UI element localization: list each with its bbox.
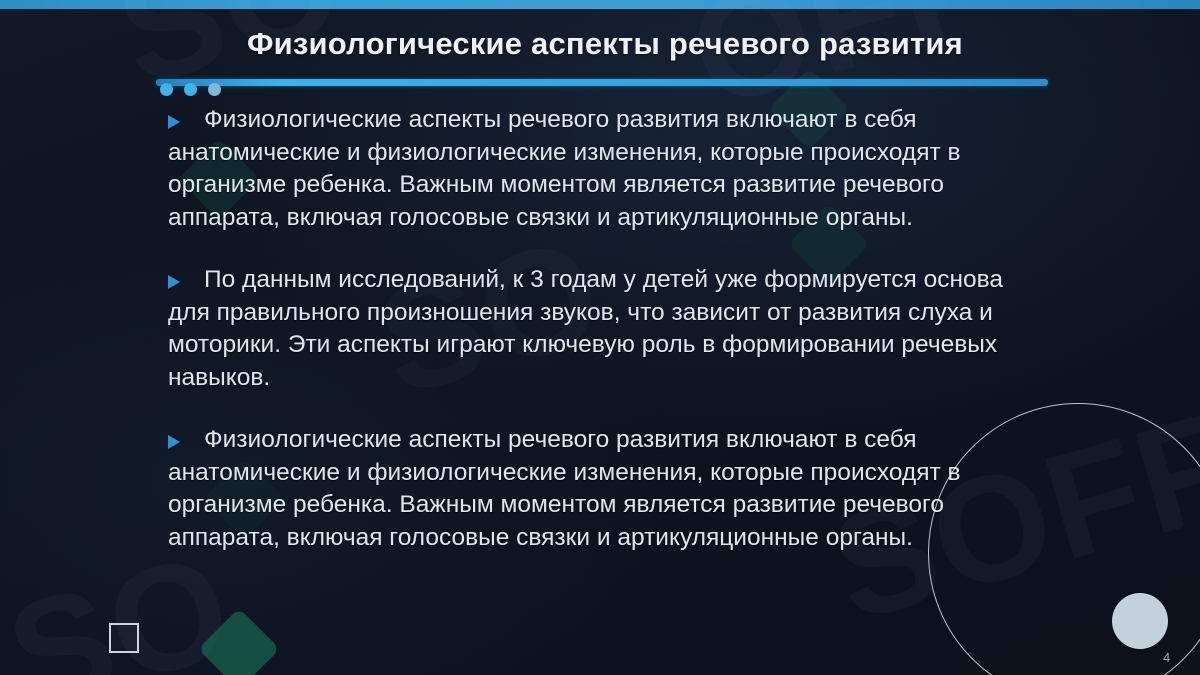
triangle-right-icon [168, 435, 180, 449]
bullet-item: Физиологические аспекты речевого развити… [168, 424, 1040, 554]
triangle-right-icon [168, 275, 180, 289]
dot-icon [160, 83, 173, 96]
slide-body: Физиологические аспекты речевого развити… [168, 104, 1040, 554]
bullet-text: По данным исследований, к 3 годам у дете… [168, 266, 1003, 391]
top-accent-bar [0, 0, 1200, 9]
dot-icon [208, 83, 221, 96]
decorative-square-outline [109, 623, 139, 653]
title-dots-decoration [160, 83, 221, 96]
decorative-filled-circle [1112, 593, 1168, 649]
decorative-diamond [198, 608, 280, 675]
triangle-right-icon [168, 115, 180, 129]
page-number: 4 [1163, 650, 1170, 665]
bullet-text: Физиологические аспекты речевого развити… [168, 426, 961, 551]
bullet-item: По данным исследований, к 3 годам у дете… [168, 264, 1040, 394]
dot-icon [184, 83, 197, 96]
title-underline [156, 79, 1048, 86]
slide-title: Физиологические аспекты речевого развити… [155, 26, 1055, 62]
presentation-slide: SO OFF SO SO SOFF Физиологические аспект… [0, 0, 1200, 675]
bullet-text: Физиологические аспекты речевого развити… [168, 106, 961, 231]
bullet-item: Физиологические аспекты речевого развити… [168, 104, 1040, 234]
